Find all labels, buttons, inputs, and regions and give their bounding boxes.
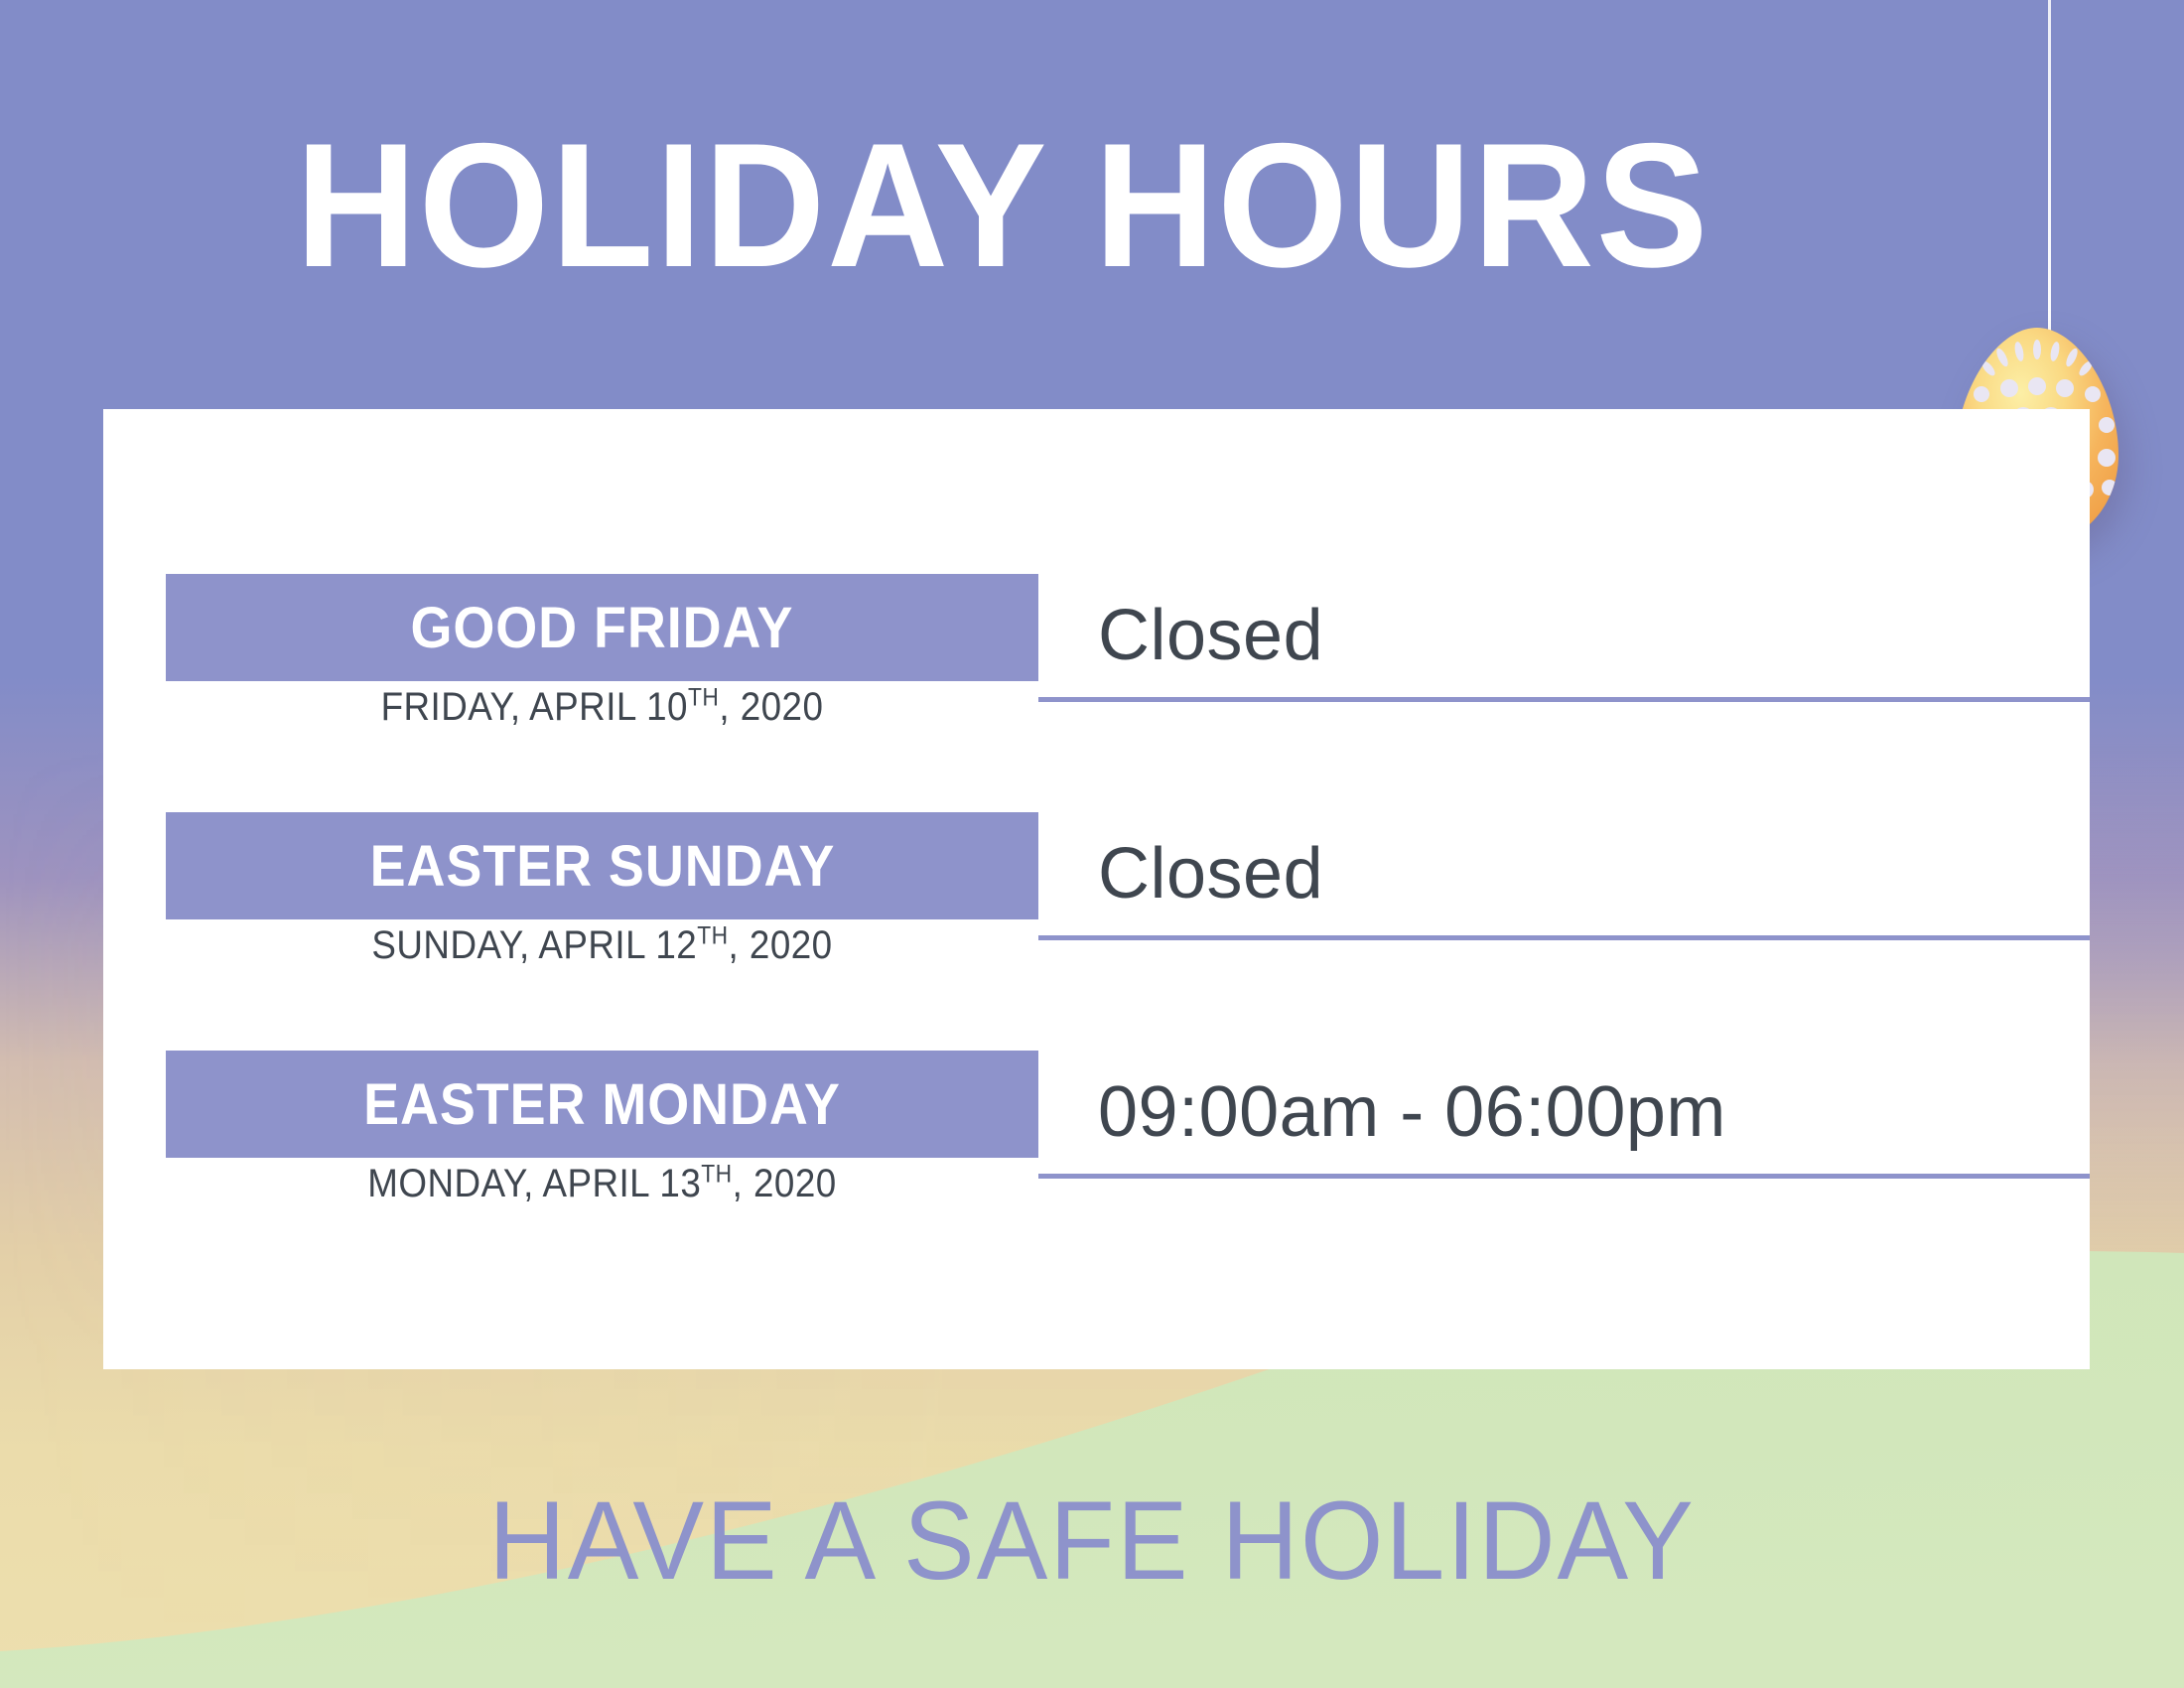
day-date: SUNDAY, APRIL 12TH, 2020 [201, 923, 1004, 968]
day-date-prefix: SUNDAY, APRIL 12 [371, 923, 697, 967]
holiday-hours-poster: HOLIDAY HOURS [0, 0, 2184, 1688]
egg-hanging-string [2048, 0, 2051, 339]
day-name: EASTER MONDAY [363, 1071, 841, 1138]
page-title: HOLIDAY HOURS [51, 117, 1956, 294]
day-date-year: , 2020 [733, 1162, 837, 1205]
schedule-row: EASTER SUNDAY SUNDAY, APRIL 12TH, 2020 C… [166, 812, 2090, 999]
hours-value: 09:00am - 06:00pm [1038, 1071, 1726, 1153]
schedule-row: EASTER MONDAY MONDAY, APRIL 13TH, 2020 0… [166, 1051, 2090, 1237]
day-date-year: , 2020 [729, 923, 833, 967]
day-date-ordinal: TH [701, 1162, 732, 1189]
day-name: EASTER SUNDAY [369, 833, 835, 900]
hours-value: Closed [1038, 833, 1323, 914]
schedule-card: GOOD FRIDAY FRIDAY, APRIL 10TH, 2020 Clo… [103, 409, 2090, 1369]
day-date: FRIDAY, APRIL 10TH, 2020 [201, 685, 1004, 730]
day-date-prefix: MONDAY, APRIL 13 [367, 1162, 701, 1205]
day-date-ordinal: TH [688, 685, 719, 712]
day-date: MONDAY, APRIL 13TH, 2020 [201, 1162, 1004, 1206]
day-label-bar: EASTER SUNDAY [166, 812, 1038, 919]
day-date-ordinal: TH [697, 923, 728, 950]
day-date-year: , 2020 [719, 685, 823, 729]
hours-cell: Closed [1038, 812, 2090, 940]
hours-cell: 09:00am - 06:00pm [1038, 1051, 2090, 1179]
day-label-bar: EASTER MONDAY [166, 1051, 1038, 1158]
schedule-row: GOOD FRIDAY FRIDAY, APRIL 10TH, 2020 Clo… [166, 574, 2090, 761]
day-name: GOOD FRIDAY [411, 595, 794, 661]
hours-cell: Closed [1038, 574, 2090, 702]
footer-message: HAVE A SAFE HOLIDAY [44, 1477, 2140, 1605]
day-date-prefix: FRIDAY, APRIL 10 [381, 685, 688, 729]
hours-value: Closed [1038, 595, 1323, 676]
day-label-bar: GOOD FRIDAY [166, 574, 1038, 681]
